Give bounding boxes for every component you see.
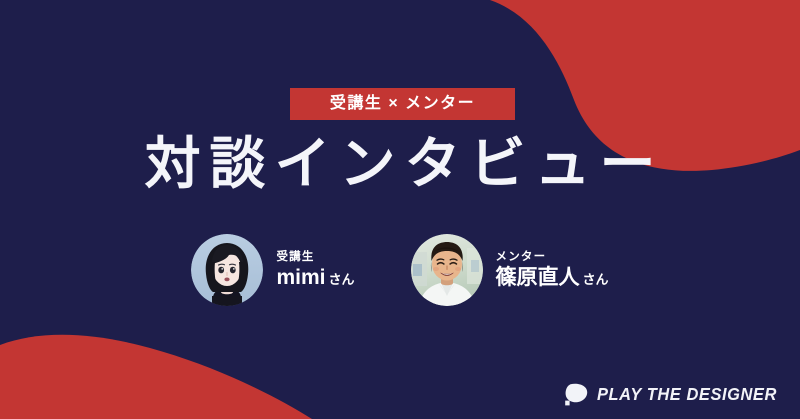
interview-title-card: 受講生 × メンター 対談インタビュー (0, 0, 800, 419)
participant-name: mimiさん (276, 267, 354, 288)
participant-name-suffix: さん (328, 272, 354, 287)
decorative-background-shapes (0, 0, 800, 419)
participant-meta: 受講生 mimiさん (276, 252, 354, 289)
category-badge-label: 受講生 × メンター (330, 96, 475, 112)
participant-name-text: mimi (276, 266, 325, 289)
category-badge: 受講生 × メンター (290, 88, 515, 120)
avatar (411, 234, 483, 306)
avatar (191, 234, 263, 306)
participant-name: 篠原直人さん (496, 267, 609, 288)
page-title: 対談インタビュー (0, 133, 800, 196)
illustrated-female-avatar-icon (191, 234, 263, 306)
photo-male-avatar-icon (411, 234, 483, 306)
brand-logo: PLAY THE DESIGNER (562, 383, 788, 407)
participant-name-text: 篠原直人 (496, 266, 580, 289)
speech-bubble-icon (562, 383, 588, 407)
participant-name-suffix: さん (583, 272, 609, 287)
brand-logo-text: PLAY THE DESIGNER (597, 386, 777, 404)
participant-meta: メンター 篠原直人さん (496, 252, 609, 289)
participant-student: 受講生 mimiさん (191, 234, 354, 306)
participant-role: 受講生 (276, 252, 354, 264)
participant-mentor: メンター 篠原直人さん (411, 234, 609, 306)
participant-role: メンター (496, 252, 609, 264)
participants-row: 受講生 mimiさん (0, 232, 800, 308)
